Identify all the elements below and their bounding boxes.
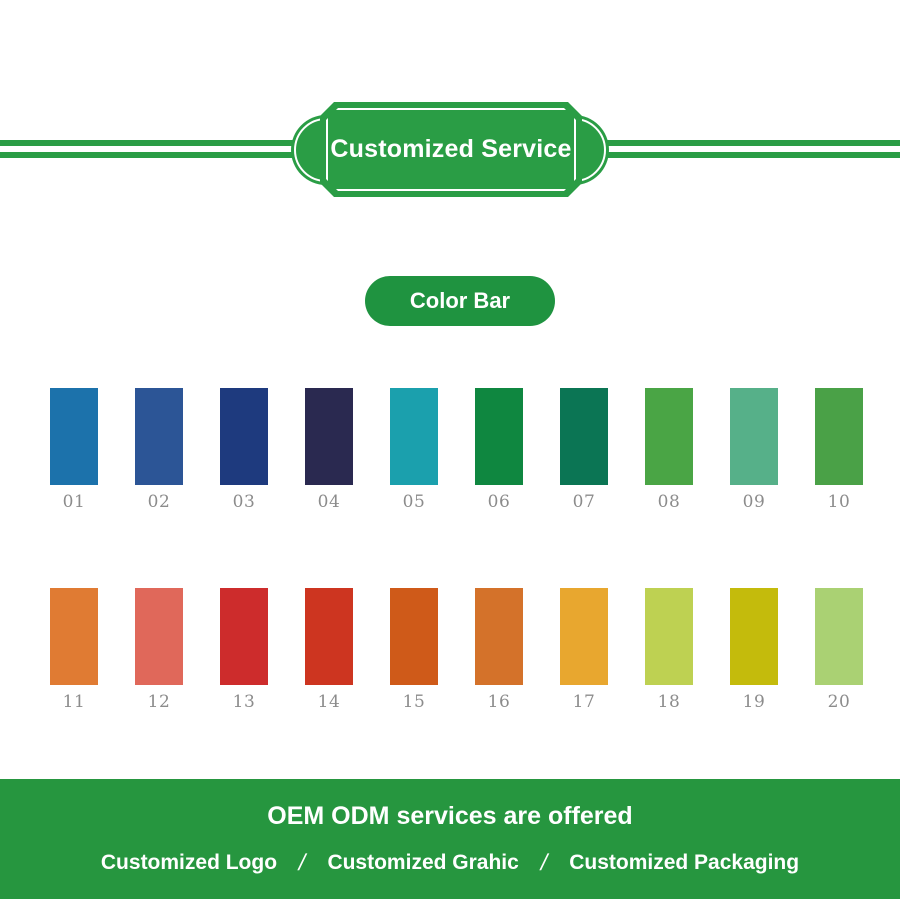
swatch-label: 11 — [63, 694, 86, 711]
color-bar-page: { "header": { "title": "Customized Servi… — [0, 0, 900, 899]
swatch-label: 06 — [488, 494, 511, 511]
swatch-cell[interactable]: 08 — [645, 388, 693, 511]
footer-separator: / — [538, 851, 549, 874]
swatch-chip[interactable] — [475, 588, 523, 685]
swatch-label: 01 — [63, 494, 86, 511]
swatch-grid-row-1: 01020304050607080910 — [50, 388, 865, 511]
footer-headline: OEM ODM services are offered — [267, 804, 632, 829]
swatch-cell[interactable]: 02 — [135, 388, 183, 511]
swatch-cell[interactable]: 04 — [305, 388, 353, 511]
swatch-label: 20 — [828, 694, 851, 711]
swatch-label: 02 — [148, 494, 171, 511]
swatch-chip[interactable] — [560, 588, 608, 685]
swatch-cell[interactable]: 17 — [560, 588, 608, 711]
swatch-chip[interactable] — [50, 388, 98, 485]
swatch-cell[interactable]: 13 — [220, 588, 268, 711]
swatch-chip[interactable] — [135, 588, 183, 685]
swatch-chip[interactable] — [645, 588, 693, 685]
footer-service-item: Customized Grahic — [327, 852, 518, 873]
swatch-chip[interactable] — [390, 588, 438, 685]
swatch-cell[interactable]: 18 — [645, 588, 693, 711]
swatch-cell[interactable]: 16 — [475, 588, 523, 711]
swatch-chip[interactable] — [135, 388, 183, 485]
footer-banner: OEM ODM services are offered Customized … — [0, 779, 900, 899]
page-title: Customized Service — [330, 137, 571, 162]
swatch-label: 18 — [658, 694, 681, 711]
swatch-cell[interactable]: 15 — [390, 588, 438, 711]
swatch-cell[interactable]: 10 — [815, 388, 863, 511]
swatch-label: 04 — [318, 494, 341, 511]
swatch-label: 16 — [488, 694, 511, 711]
swatch-chip[interactable] — [730, 588, 778, 685]
swatch-grid-row-2: 11121314151617181920 — [50, 588, 865, 711]
swatch-cell[interactable]: 09 — [730, 388, 778, 511]
swatch-cell[interactable]: 14 — [305, 588, 353, 711]
header-ribbon: Customized Service — [0, 0, 900, 240]
swatch-cell[interactable]: 01 — [50, 388, 98, 511]
footer-service-item: Customized Logo — [101, 852, 277, 873]
swatch-label: 19 — [743, 694, 766, 711]
swatch-cell[interactable]: 11 — [50, 588, 98, 711]
swatch-cell[interactable]: 19 — [730, 588, 778, 711]
swatch-label: 14 — [318, 694, 341, 711]
swatch-label: 03 — [233, 494, 256, 511]
color-bar-pill-label: Color Bar — [410, 290, 510, 312]
swatch-chip[interactable] — [390, 388, 438, 485]
footer-separator: / — [297, 851, 308, 874]
swatch-cell[interactable]: 03 — [220, 388, 268, 511]
swatch-chip[interactable] — [305, 588, 353, 685]
swatch-chip[interactable] — [305, 388, 353, 485]
swatch-label: 15 — [403, 694, 426, 711]
swatch-chip[interactable] — [560, 388, 608, 485]
swatch-chip[interactable] — [730, 388, 778, 485]
swatch-label: 12 — [148, 694, 171, 711]
swatch-label: 07 — [573, 494, 596, 511]
swatch-label: 13 — [233, 694, 256, 711]
swatch-cell[interactable]: 07 — [560, 388, 608, 511]
swatch-chip[interactable] — [815, 388, 863, 485]
swatch-cell[interactable]: 12 — [135, 588, 183, 711]
swatch-label: 08 — [658, 494, 681, 511]
footer-service-item: Customized Packaging — [569, 852, 799, 873]
swatch-label: 17 — [573, 694, 596, 711]
swatch-row: 11121314151617181920 — [50, 588, 865, 711]
color-bar-pill: Color Bar — [365, 276, 555, 326]
swatch-cell[interactable]: 20 — [815, 588, 863, 711]
swatch-chip[interactable] — [475, 388, 523, 485]
swatch-chip[interactable] — [220, 388, 268, 485]
swatch-row: 01020304050607080910 — [50, 388, 865, 511]
swatch-chip[interactable] — [815, 588, 863, 685]
swatch-chip[interactable] — [220, 588, 268, 685]
swatch-chip[interactable] — [50, 588, 98, 685]
swatch-cell[interactable]: 06 — [475, 388, 523, 511]
swatch-label: 05 — [403, 494, 426, 511]
swatch-label: 10 — [828, 494, 851, 511]
header-plaque: Customized Service — [326, 108, 576, 191]
swatch-label: 09 — [743, 494, 766, 511]
swatch-chip[interactable] — [645, 388, 693, 485]
swatch-cell[interactable]: 05 — [390, 388, 438, 511]
footer-service-list: Customized Logo/Customized Grahic/Custom… — [101, 851, 799, 874]
